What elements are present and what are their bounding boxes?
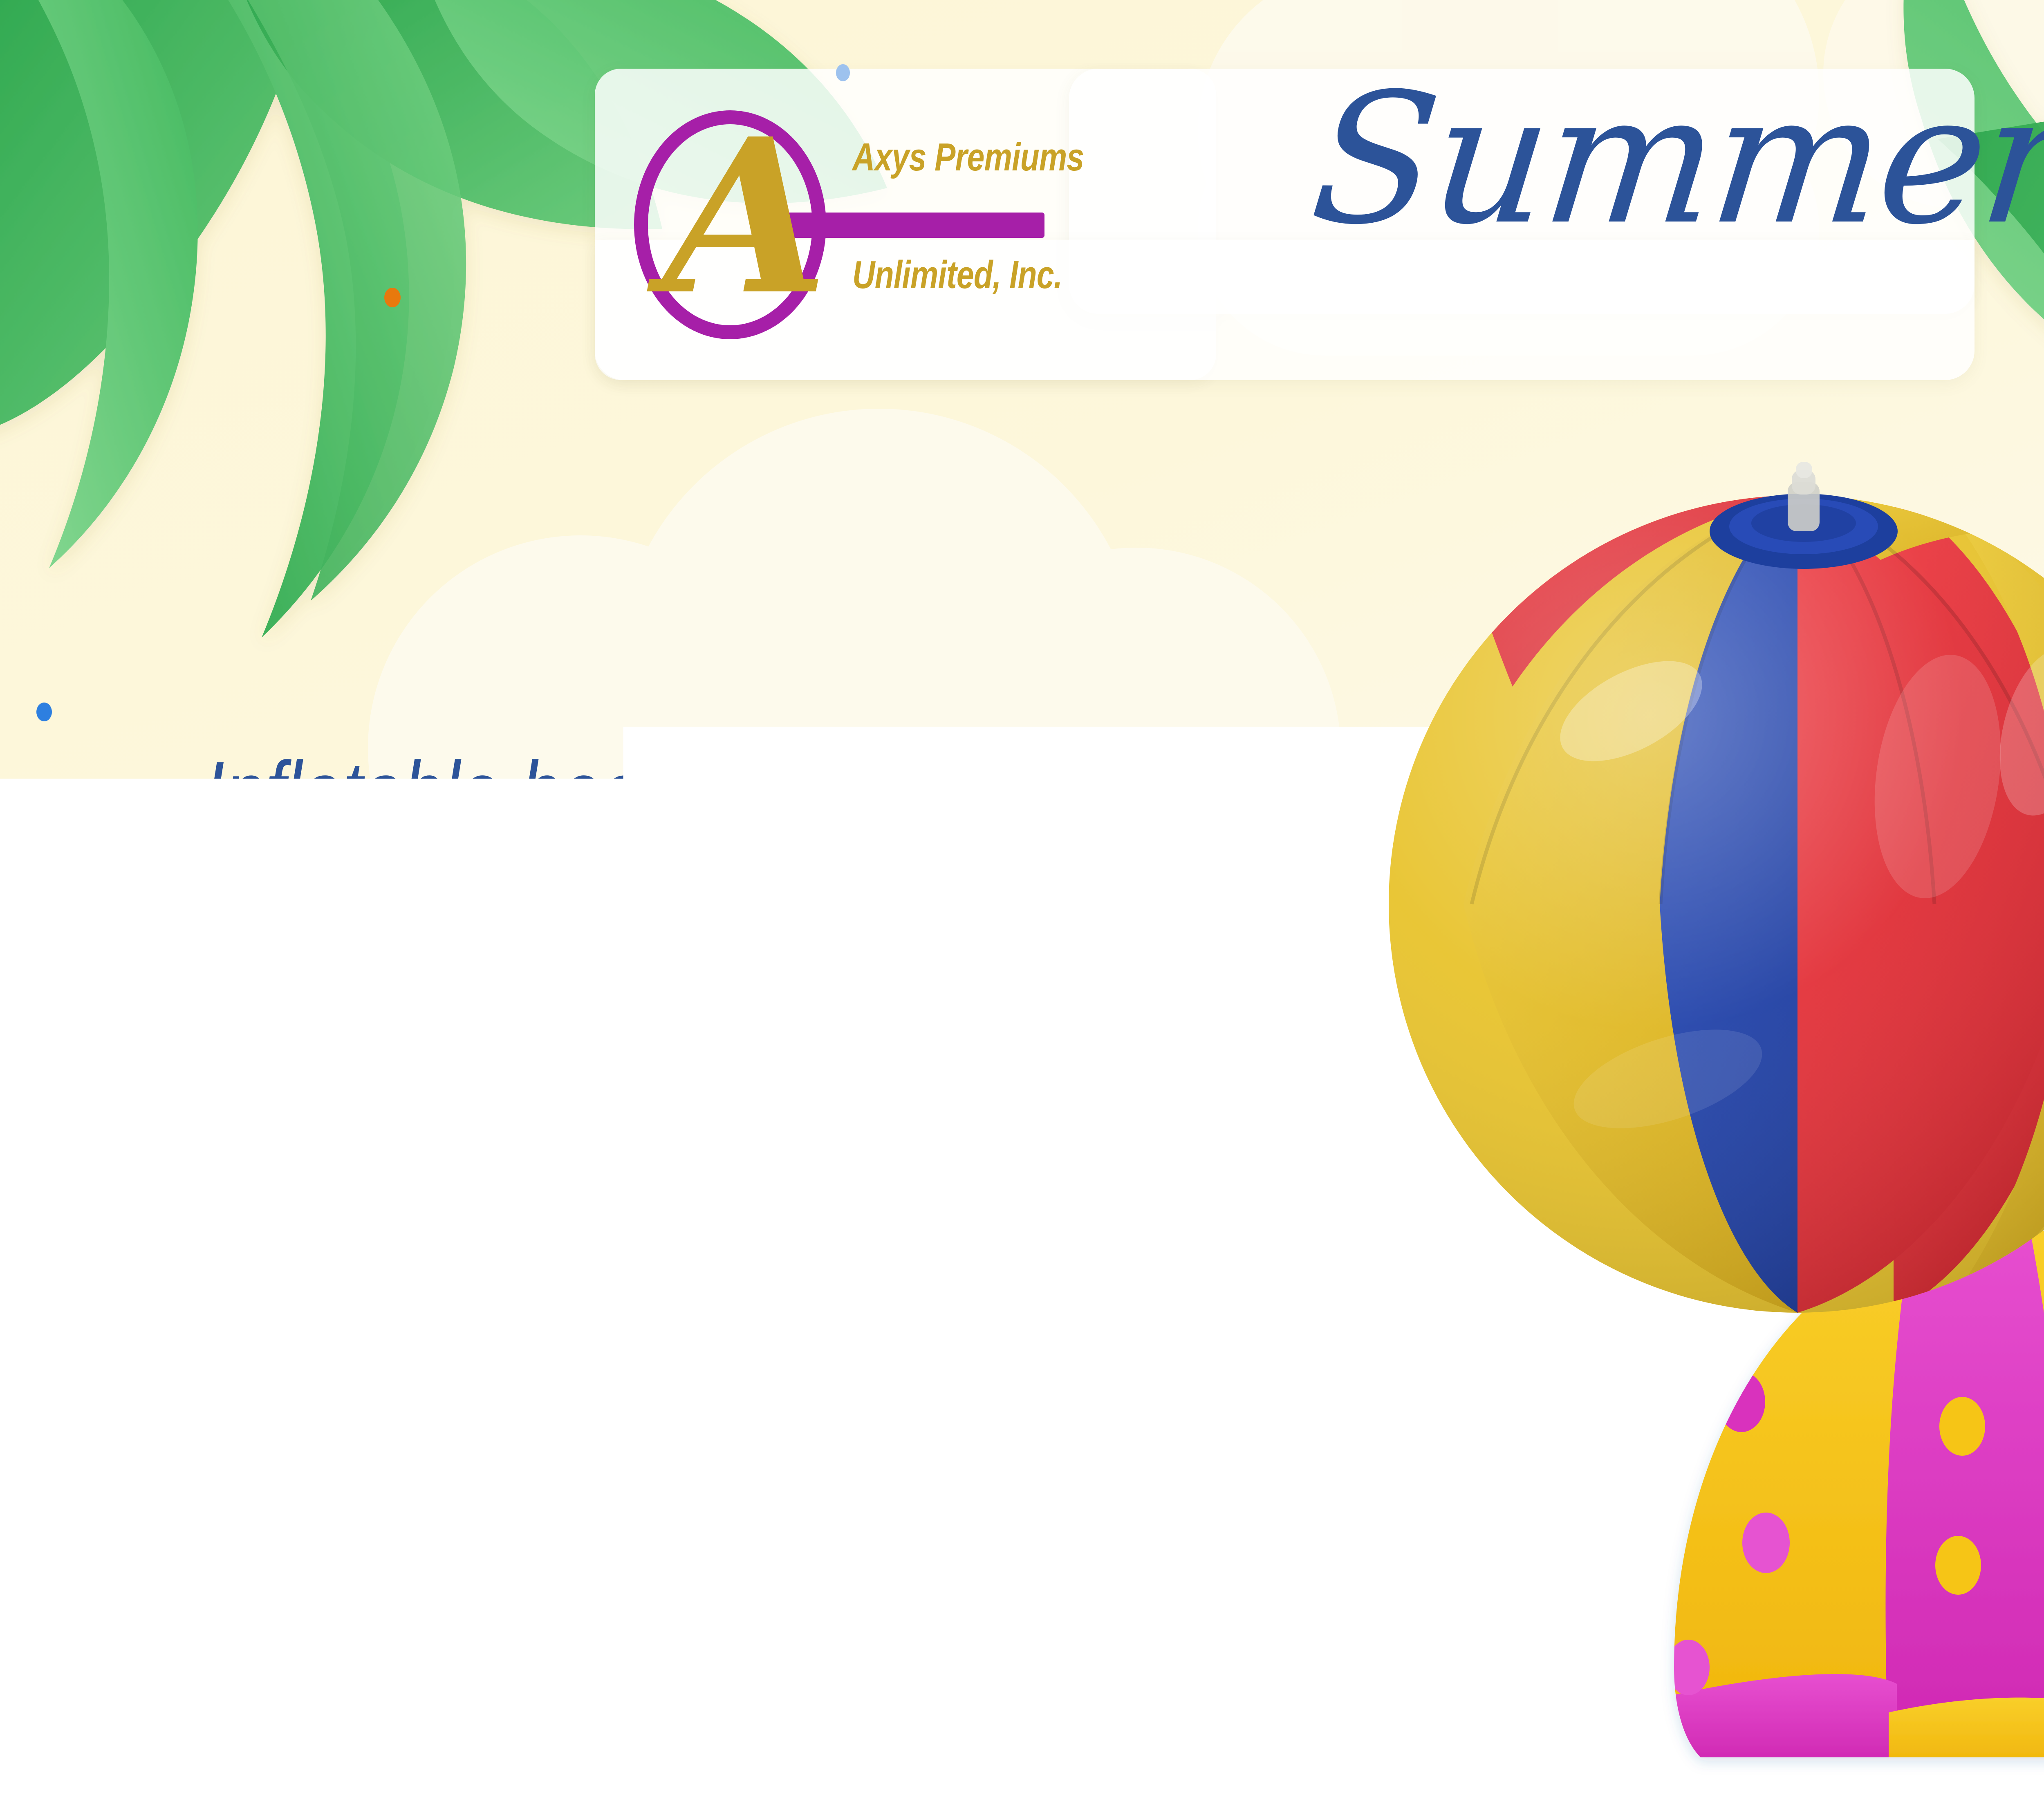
wave-foam-dot: [631, 1700, 648, 1721]
promo-canvas: A Axys Premiums Unlimited, Inc. Summer I…: [0, 0, 2044, 1806]
wave-foam-dot: [631, 1600, 646, 1620]
wave-foam-dot: [1190, 1739, 1207, 1761]
wave-foam-dot: [1859, 1774, 1871, 1790]
wave-foam-dot: [1967, 1699, 1981, 1718]
wave-foam-dot: [1166, 1687, 1177, 1703]
wave-foam-dot: [29, 1494, 56, 1520]
wave-foam-dot: [78, 1633, 96, 1650]
wave-foam-dot-layer: [0, 0, 2044, 1806]
